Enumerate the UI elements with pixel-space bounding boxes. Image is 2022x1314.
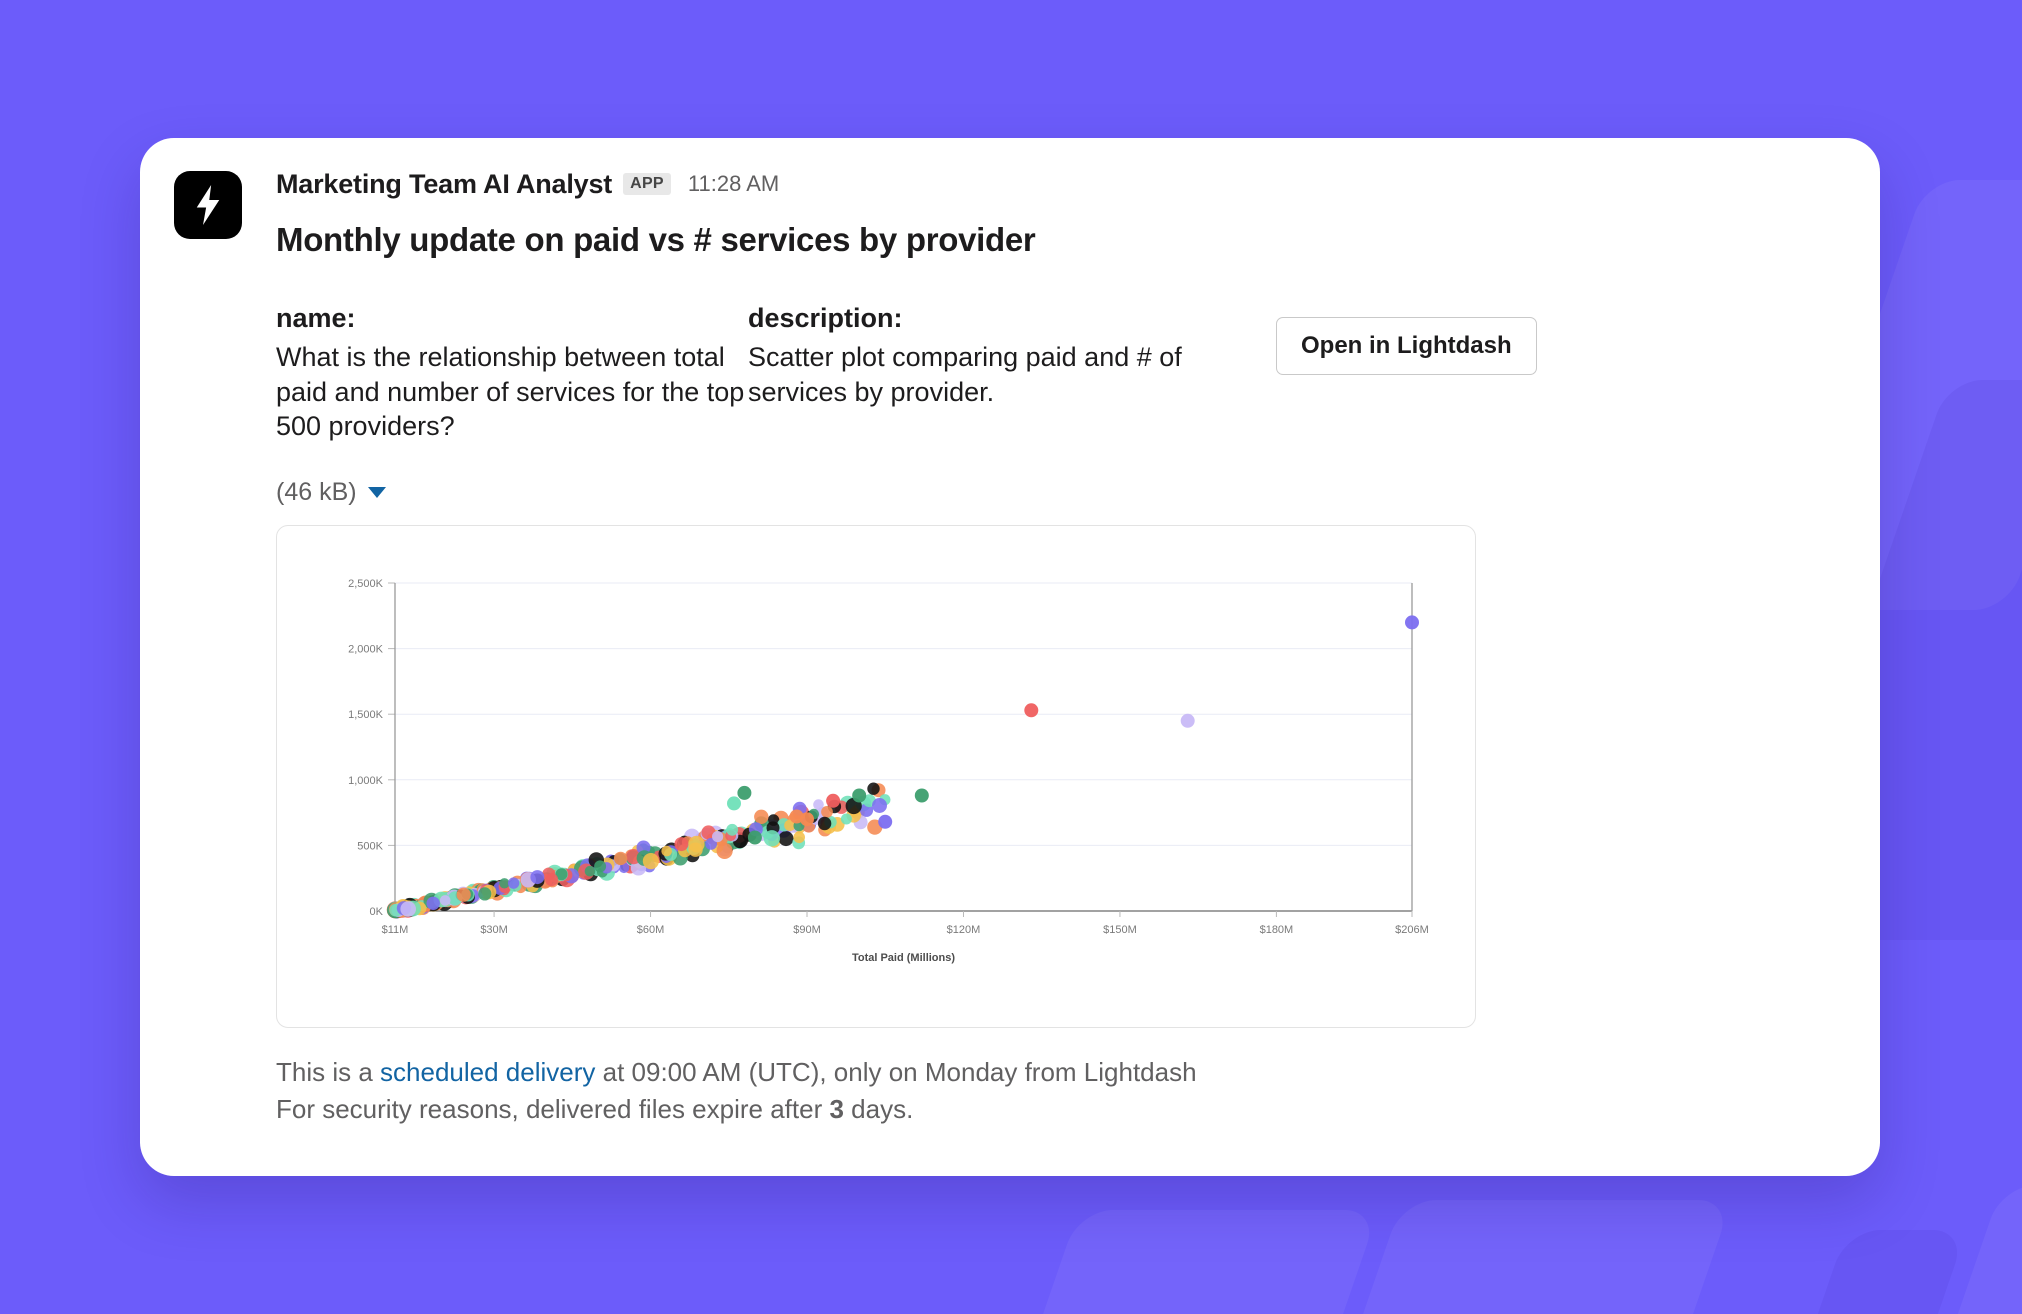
- attachment-filesize: (46 kB): [276, 478, 357, 507]
- caret-down-icon[interactable]: [368, 487, 386, 498]
- expiry-days: 3: [829, 1094, 843, 1124]
- x-tick-label: $180M: [1260, 924, 1294, 936]
- open-in-lightdash-button[interactable]: Open in Lightdash: [1276, 317, 1537, 375]
- chart-attachment-panel[interactable]: 0K500K1,000K1,500K2,000K2,500K$11M$30M$6…: [276, 525, 1476, 1028]
- slack-message-card: Marketing Team AI Analyst APP 11:28 AM M…: [140, 138, 1880, 1176]
- description-label: description:: [748, 303, 1220, 334]
- y-tick-label: 2,500K: [348, 578, 384, 590]
- y-tick-label: 0K: [370, 906, 384, 918]
- x-tick-label: $206M: [1395, 924, 1429, 936]
- y-tick-label: 500K: [357, 840, 383, 852]
- message-timestamp: 11:28 AM: [688, 171, 779, 197]
- x-tick-label: $120M: [947, 924, 981, 936]
- footer-line2-prefix: For security reasons, delivered files ex…: [276, 1094, 829, 1124]
- footer-line2-suffix: days.: [844, 1094, 913, 1124]
- deco-bolt-bottom-left: [941, 1210, 1379, 1314]
- app-name: Marketing Team AI Analyst: [276, 169, 612, 200]
- y-tick-label: 1,000K: [348, 774, 384, 786]
- footer-line1-prefix: This is a: [276, 1057, 380, 1087]
- message-title: Monthly update on paid vs # services by …: [276, 221, 1838, 259]
- description-value: Scatter plot comparing paid and # of ser…: [748, 340, 1220, 409]
- x-tick-label: $90M: [793, 924, 821, 936]
- y-tick-label: 2,000K: [348, 643, 384, 655]
- message-header: Marketing Team AI Analyst APP 11:28 AM M…: [174, 166, 1838, 259]
- footer-line1-suffix: at 09:00 AM (UTC), only on Monday from L…: [595, 1057, 1196, 1087]
- name-column: name: What is the relationship between t…: [276, 303, 748, 444]
- x-tick-label: $30M: [480, 924, 508, 936]
- name-label: name:: [276, 303, 748, 334]
- metadata-section: name: What is the relationship between t…: [276, 303, 1838, 444]
- deco-bolt-bottom-right: [1733, 1230, 1967, 1314]
- y-tick-label: 1,500K: [348, 709, 384, 721]
- lightning-bolt-icon: [174, 171, 242, 239]
- description-column: description: Scatter plot comparing paid…: [748, 303, 1220, 409]
- x-tick-label: $60M: [637, 924, 665, 936]
- scatter-points: [387, 615, 1419, 918]
- footer-line-1: This is a scheduled delivery at 09:00 AM…: [276, 1054, 1838, 1092]
- name-value: What is the relationship between total p…: [276, 340, 748, 444]
- x-axis-title: Total Paid (Millions): [852, 952, 955, 964]
- scatter-chart: 0K500K1,000K1,500K2,000K2,500K$11M$30M$6…: [277, 526, 1474, 1026]
- delivery-footer: This is a scheduled delivery at 09:00 AM…: [276, 1054, 1838, 1129]
- app-badge: APP: [623, 173, 671, 196]
- scheduled-delivery-link[interactable]: scheduled delivery: [380, 1057, 595, 1087]
- attachment-toggle-row[interactable]: (46 kB): [276, 478, 1838, 507]
- x-tick-label: $150M: [1103, 924, 1137, 936]
- x-tick-label: $11M: [382, 924, 409, 936]
- footer-line-2: For security reasons, delivered files ex…: [276, 1091, 1838, 1129]
